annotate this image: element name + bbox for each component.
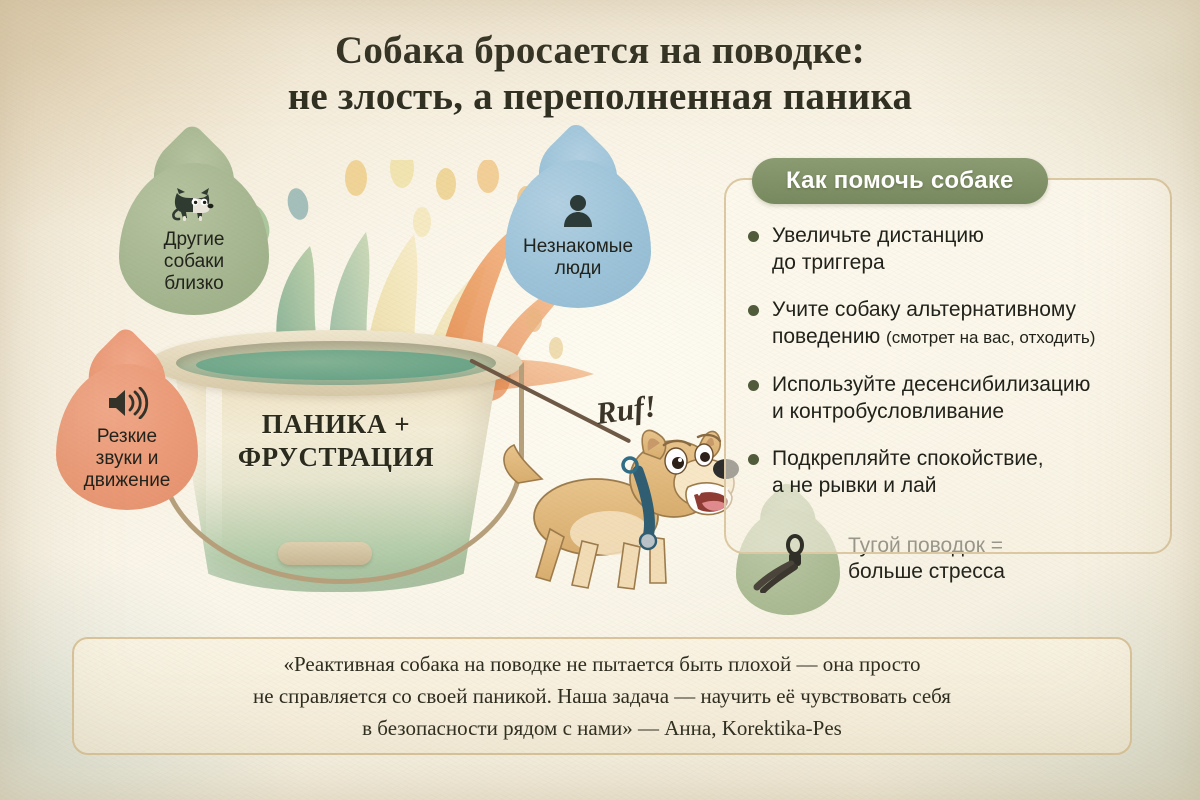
bucket-label-line1: ПАНИКА + bbox=[150, 408, 522, 441]
drop-label-strangers: Незнакомые люди bbox=[523, 236, 633, 280]
tips-heading-pill: Как помочь собаке bbox=[752, 158, 1048, 204]
quote-card: «Реактивная собака на поводке не пытаетс… bbox=[72, 637, 1132, 755]
bullet-icon bbox=[748, 231, 759, 242]
leash-note-line2: больше стресса bbox=[848, 559, 1005, 585]
bullet-icon bbox=[748, 380, 759, 391]
title-line-1: Собака бросается на поводке: bbox=[0, 28, 1200, 74]
bullet-icon bbox=[748, 305, 759, 316]
leash-icon bbox=[753, 531, 823, 598]
bucket-grip bbox=[278, 542, 372, 565]
dog-icon bbox=[171, 188, 217, 227]
tip-main: Подкрепляйте спокойствие, bbox=[772, 447, 1044, 470]
person-icon bbox=[560, 193, 596, 234]
quote-line-3: в безопасности рядом с нами» — Анна, Kor… bbox=[253, 712, 951, 744]
bucket-label-line2: ФРУСТРАЦИЯ bbox=[150, 441, 522, 474]
drop-label-line2: собаки bbox=[164, 251, 225, 273]
list-item[interactable]: Подкрепляйте спокойствие, а не рывки и л… bbox=[748, 445, 1164, 499]
tip-text: Подкрепляйте спокойствие, а не рывки и л… bbox=[772, 445, 1044, 499]
tip-main: Увеличьте дистанцию bbox=[772, 224, 984, 247]
tip-text: Используйте десенсибилизацию и контробус… bbox=[772, 371, 1090, 425]
tip-second: и контробусловливание bbox=[772, 400, 1004, 423]
list-item[interactable]: Увеличьте дистанцию до триггера bbox=[748, 222, 1164, 276]
tip-main: Учите собаку альтернативному bbox=[772, 298, 1076, 321]
barking-dog-illustration bbox=[498, 425, 748, 605]
panic-bucket: ПАНИКА + ФРУСТРАЦИЯ bbox=[150, 330, 522, 598]
quote-text: «Реактивная собака на поводке не пытаетс… bbox=[227, 648, 977, 744]
tip-main: Используйте десенсибилизацию bbox=[772, 373, 1090, 396]
drop-label-line1: Другие bbox=[164, 229, 225, 251]
tips-list: Увеличьте дистанцию до триггера Учите со… bbox=[748, 222, 1164, 519]
drop-label-line3: движение bbox=[84, 470, 171, 492]
drop-label-line2: люди bbox=[523, 258, 633, 280]
tip-second: а не рывки и лай bbox=[772, 474, 937, 497]
tip-second: поведению bbox=[772, 325, 880, 348]
page-title: Собака бросается на поводке: не злость, … bbox=[0, 28, 1200, 120]
tip-second: до триггера bbox=[772, 251, 885, 274]
tip-sub: (смотрет на вас, отходить) bbox=[886, 328, 1095, 347]
bucket-label: ПАНИКА + ФРУСТРАЦИЯ bbox=[150, 408, 522, 474]
infographic-canvas: ПАНИКА + ФРУСТРАЦИЯ Ruf! bbox=[0, 0, 1200, 800]
tips-heading-text: Как помочь собаке bbox=[786, 167, 1014, 194]
drop-label-line2: звуки и bbox=[84, 448, 171, 470]
drop-label-sharp-noises: Резкие звуки и движение bbox=[84, 426, 171, 492]
quote-line-2: не справляется со своей паникой. Наша за… bbox=[253, 680, 951, 712]
tip-text: Учите собаку альтернативному поведению (… bbox=[772, 296, 1095, 351]
quote-line-1: «Реактивная собака на поводке не пытаетс… bbox=[253, 648, 951, 680]
tip-text: Увеличьте дистанцию до триггера bbox=[772, 222, 984, 276]
drop-label-line1: Резкие bbox=[84, 426, 171, 448]
drop-label-line3: близко bbox=[164, 273, 225, 295]
list-item[interactable]: Используйте десенсибилизацию и контробус… bbox=[748, 371, 1164, 425]
drop-label-line1: Незнакомые bbox=[523, 236, 633, 258]
speaker-icon bbox=[105, 387, 149, 424]
bullet-icon bbox=[748, 454, 759, 465]
drop-label-other-dogs: Другие собаки близко bbox=[164, 229, 225, 295]
title-line-2: не злость, а переполненная паника bbox=[0, 74, 1200, 120]
dog-svg bbox=[498, 425, 748, 605]
list-item[interactable]: Учите собаку альтернативному поведению (… bbox=[748, 296, 1164, 351]
